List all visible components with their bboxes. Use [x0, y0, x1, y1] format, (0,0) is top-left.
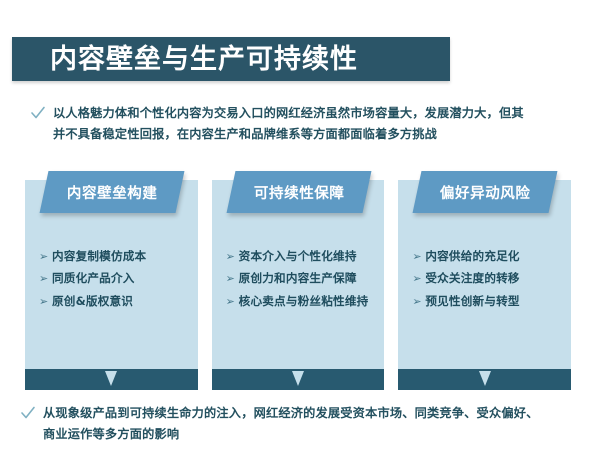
tail-paragraph: 从现象级产品到可持续生命力的注入，网红经济的发展受资本市场、同类竞争、受众偏好、… — [20, 403, 539, 445]
arrow-right-icon: ➢ — [412, 296, 425, 307]
list-item-label: 内容供给的充足化 — [425, 250, 519, 263]
panel-footer-bar-1 — [25, 369, 198, 390]
arrow-right-icon: ➢ — [39, 251, 52, 262]
panel-notch-icon — [105, 371, 117, 386]
slide-canvas: 内容壁垒与生产可持续性 以人格魅力体和个性化内容为交易入口的网红经济虽然市场容量… — [0, 0, 600, 450]
list-item-label: 受众关注度的转移 — [425, 272, 519, 285]
arrow-right-icon: ➢ — [226, 296, 239, 307]
list-item-label: 内容复制模仿成本 — [52, 250, 146, 263]
panel-item-list-3: ➢ 内容供给的充足化 ➢ 受众关注度的转移 ➢ 预见性创新与转型 — [412, 250, 563, 317]
lead-paragraph-line-1: 以人格魅力体和个性化内容为交易入口的网红经济虽然市场容量大，发展潜力大，但其 — [53, 106, 524, 120]
slide-title-bar: 内容壁垒与生产可持续性 — [12, 37, 450, 81]
arrow-right-icon: ➢ — [39, 296, 52, 307]
list-item[interactable]: ➢ 同质化产品介入 — [39, 272, 190, 285]
panel-content-barrier[interactable]: 内容壁垒构建 ➢ 内容复制模仿成本 ➢ 同质化产品介入 ➢ 原创&版权意识 — [25, 180, 198, 390]
panel-notch-icon — [292, 371, 304, 386]
lead-paragraph-line-2: 并不具备稳定性回报，在内容生产和品牌维系等方面都面临着多方挑战 — [53, 127, 437, 141]
panel-footer-bar-2 — [212, 369, 385, 390]
panel-item-list-2: ➢ 资本介入与个性化维持 ➢ 原创力和内容生产保障 ➢ 核心卖点与粉丝粘性维持 — [226, 250, 377, 317]
arrow-right-icon: ➢ — [412, 251, 425, 262]
panel-header-label-1: 内容壁垒构建 — [67, 182, 158, 203]
arrow-right-icon: ➢ — [226, 251, 239, 262]
tail-paragraph-text: 从现象级产品到可持续生命力的注入，网红经济的发展受资本市场、同类竞争、受众偏好、… — [43, 403, 539, 445]
list-item-label: 资本介入与个性化维持 — [239, 250, 357, 263]
list-item[interactable]: ➢ 内容供给的充足化 — [412, 250, 563, 263]
list-item[interactable]: ➢ 内容复制模仿成本 — [39, 250, 190, 263]
check-icon — [30, 105, 46, 121]
panel-header-banner-2: 可持续性保障 — [226, 171, 371, 213]
page-title: 内容壁垒与生产可持续性 — [12, 46, 358, 73]
arrow-right-icon: ➢ — [226, 273, 239, 284]
panel-item-list-1: ➢ 内容复制模仿成本 ➢ 同质化产品介入 ➢ 原创&版权意识 — [39, 250, 190, 317]
list-item-label: 预见性创新与转型 — [425, 295, 519, 308]
panel-preference-risk[interactable]: 偏好异动风险 ➢ 内容供给的充足化 ➢ 受众关注度的转移 ➢ 预见性创新与转型 — [398, 180, 571, 390]
panel-header-banner-1: 内容壁垒构建 — [40, 171, 185, 213]
tail-paragraph-line-2: 商业运作等多方面的影响 — [43, 427, 179, 441]
panel-header-label-2: 可持续性保障 — [253, 182, 344, 203]
lead-paragraph: 以人格魅力体和个性化内容为交易入口的网红经济虽然市场容量大，发展潜力大，但其 并… — [30, 103, 524, 145]
list-item-label: 原创&版权意识 — [52, 295, 133, 308]
list-item[interactable]: ➢ 受众关注度的转移 — [412, 272, 563, 285]
tail-paragraph-line-1: 从现象级产品到可持续生命力的注入，网红经济的发展受资本市场、同类竞争、受众偏好、 — [43, 406, 539, 420]
panel-header-banner-3: 偏好异动风险 — [413, 171, 558, 213]
list-item[interactable]: ➢ 预见性创新与转型 — [412, 295, 563, 308]
list-item[interactable]: ➢ 原创力和内容生产保障 — [226, 272, 377, 285]
arrow-right-icon: ➢ — [39, 273, 52, 284]
panel-sustainability[interactable]: 可持续性保障 ➢ 资本介入与个性化维持 ➢ 原创力和内容生产保障 ➢ 核心卖点与… — [212, 180, 385, 390]
panel-notch-icon — [479, 371, 491, 386]
list-item-label: 同质化产品介入 — [52, 272, 135, 285]
lead-paragraph-text: 以人格魅力体和个性化内容为交易入口的网红经济虽然市场容量大，发展潜力大，但其 并… — [53, 103, 524, 145]
list-item[interactable]: ➢ 资本介入与个性化维持 — [226, 250, 377, 263]
list-item-label: 核心卖点与粉丝粘性维持 — [239, 295, 369, 308]
panel-footer-bar-3 — [398, 369, 571, 390]
panel-header-label-3: 偏好异动风险 — [440, 182, 531, 203]
list-item-label: 原创力和内容生产保障 — [239, 272, 357, 285]
check-icon — [20, 405, 36, 421]
arrow-right-icon: ➢ — [412, 273, 425, 284]
list-item[interactable]: ➢ 核心卖点与粉丝粘性维持 — [226, 295, 377, 308]
panel-row: 内容壁垒构建 ➢ 内容复制模仿成本 ➢ 同质化产品介入 ➢ 原创&版权意识 — [25, 180, 571, 390]
list-item[interactable]: ➢ 原创&版权意识 — [39, 295, 190, 308]
